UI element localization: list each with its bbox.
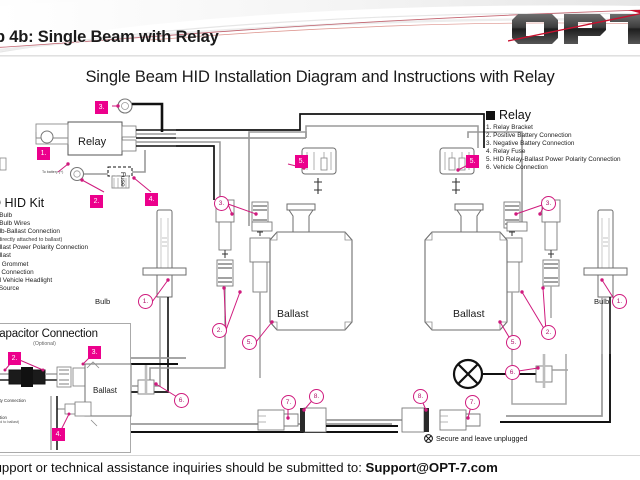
list-item: 1. Relay Bracket (486, 124, 621, 132)
left-callout-6: 6. (174, 393, 189, 408)
slide-page: ep 4b: Single Beam with Relay Single Bea… (0, 0, 640, 480)
header-divider (0, 55, 640, 57)
fuse-part-label: Fuse (119, 172, 126, 187)
bulb-label-left: Bulb (95, 297, 110, 306)
footer-prefix: support or technical assistance inquirie… (0, 460, 366, 475)
list-item: Vehicle Connection (0, 269, 88, 277)
ballast-label-right: Ballast (453, 308, 485, 320)
right-callout-6: 6. (505, 365, 520, 380)
opt7-logo (508, 8, 640, 48)
capacitor-callout-2: 2. (8, 352, 21, 365)
capacitor-callout-3: 3. (88, 346, 101, 359)
ballast-label-left: Ballast (277, 308, 309, 320)
list-item: Xenon Bulb (0, 212, 88, 220)
list-item: HID Ballast Power Polarity Connection (0, 244, 88, 252)
legend-hid-kit-title: D HID Kit (0, 196, 44, 210)
relay-part-label: Relay (78, 136, 106, 148)
right-callout-2: 2. (541, 325, 556, 340)
footer-bar: support or technical assistance inquirie… (0, 455, 640, 480)
capacitor-legend-list: Ballast Power Polarity Connection Capaci… (0, 398, 26, 426)
list-item: Power Source (0, 285, 88, 293)
bulb-label-right: Bulb (594, 297, 609, 306)
capacitor-callout-4: 4. (52, 428, 65, 441)
right-callout-8: 8. (413, 389, 428, 404)
list-item: HID Ballast (0, 252, 88, 260)
list-item: Rubber Grommet (0, 261, 88, 269)
left-callout-5a: 5. (295, 155, 308, 168)
list-item: 5. HID Relay-Ballast Power Polarity Conn… (486, 156, 621, 164)
list-item: 4. Relay Fuse (486, 148, 621, 156)
to-battery-label: To battery (+) (42, 170, 63, 174)
legend-relay: Relay 1. Relay Bracket 2. Positive Batte… (486, 108, 621, 173)
legend-relay-heading: Relay (486, 108, 621, 122)
list-item: Xenon Bulb Wires (0, 220, 88, 228)
footer-email: Support@OPT-7.com (366, 460, 498, 475)
capacitor-connection-panel: Capacitor Connection (Optional) (0, 323, 131, 453)
legend-relay-list: 1. Relay Bracket 2. Positive Battery Con… (486, 124, 621, 173)
left-callout-8: 8. (309, 389, 324, 404)
list-item: Ballast Power Polarity Connection (0, 398, 26, 404)
right-callout-1: 1. (612, 294, 627, 309)
step-title: ep 4b: Single Beam with Relay (0, 28, 219, 47)
left-callout-2: 2. (212, 323, 227, 338)
footer-support-text: support or technical assistance inquirie… (0, 460, 640, 475)
list-item: (May be directly attached to ballast) (0, 420, 26, 426)
list-item: 3. Negative Battery Connection (486, 140, 621, 148)
relay-callout-1: 1. (37, 147, 50, 160)
unplugged-note-text: Secure and leave unplugged (436, 434, 528, 443)
right-callout-3: 3. (541, 196, 556, 211)
header-bar: ep 4b: Single Beam with Relay (0, 0, 640, 57)
legend-hid-kit-heading: D HID Kit (0, 196, 88, 210)
list-item: HID Bulb-Ballast Connection (0, 228, 88, 236)
right-callout-7: 7. (465, 395, 480, 410)
relay-callout-2: 2. (90, 195, 103, 208)
left-callout-7: 7. (281, 395, 296, 410)
relay-callout-3: 3. (95, 101, 108, 114)
page-title: Single Beam HID Installation Diagram and… (0, 68, 640, 87)
list-item: 6. Vehicle Connection (486, 164, 621, 172)
legend-bullet-square-icon (486, 111, 495, 120)
x-circle-icon (424, 434, 433, 443)
right-callout-5b: 5. (506, 335, 521, 350)
unplugged-note: Secure and leave unplugged (424, 434, 528, 443)
list-item: Original Vehicle Headlight (0, 277, 88, 285)
relay-callout-4: 4. (145, 193, 158, 206)
left-callout-1: 1. (138, 294, 153, 309)
legend-hid-kit-list: Xenon Bulb Xenon Bulb Wires HID Bulb-Bal… (0, 212, 88, 293)
left-callout-5b: 5. (242, 335, 257, 350)
list-item: 2. Positive Battery Connection (486, 132, 621, 140)
legend-relay-title: Relay (499, 108, 531, 122)
right-callout-5a: 5. (466, 155, 479, 168)
list-item: May be directly attached to ballast) (0, 236, 88, 244)
left-callout-3: 3. (214, 196, 229, 211)
capacitor-ballast-label: Ballast (93, 386, 117, 395)
legend-hid-kit: D HID Kit Xenon Bulb Xenon Bulb Wires HI… (0, 196, 88, 293)
